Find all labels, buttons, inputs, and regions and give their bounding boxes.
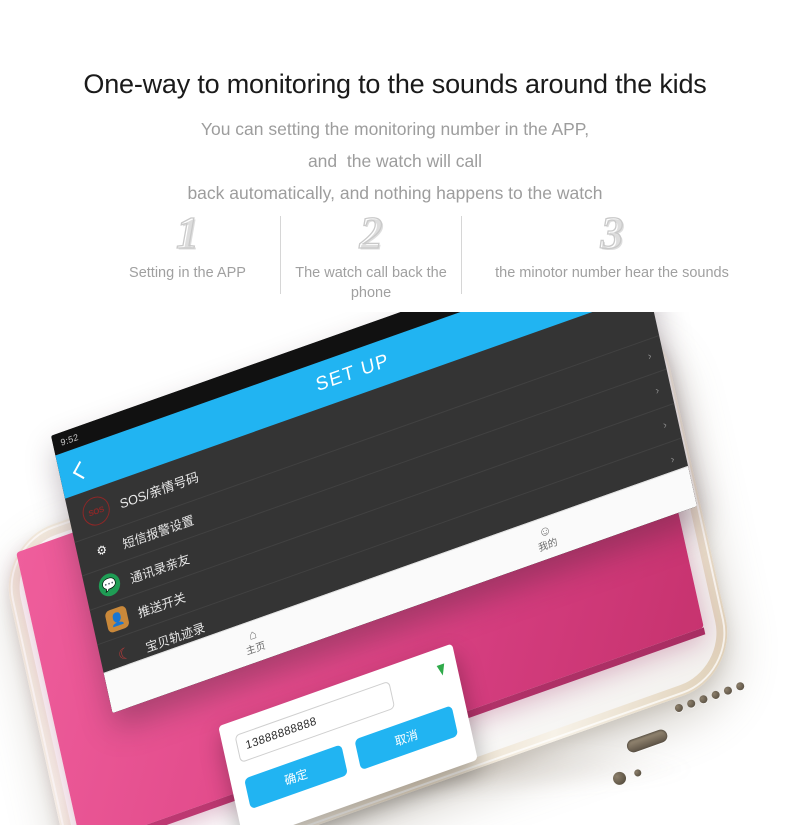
- subtitle-line-2: and the watch will call: [0, 145, 790, 177]
- settings-icon: ⚙: [89, 536, 115, 565]
- page-subtitle: You can setting the monitoring number in…: [0, 100, 790, 210]
- step-1-number: 1: [95, 208, 280, 264]
- microphone-hole: [633, 768, 642, 777]
- intro-copy: One-way to monitoring to the sounds arou…: [0, 0, 790, 210]
- chat-icon: 💬: [97, 570, 123, 599]
- steps-row: 1 Setting in the APP 2 The watch call ba…: [95, 208, 785, 304]
- contacts-icon: 👤: [104, 605, 130, 634]
- step-3-number: 3: [462, 208, 762, 264]
- step-3-caption: the minotor number hear the sounds: [462, 264, 762, 284]
- page-title: One-way to monitoring to the sounds arou…: [0, 0, 790, 100]
- caret-down-icon: [437, 663, 447, 676]
- speaker-grille: [674, 679, 754, 724]
- back-arrow-icon[interactable]: [66, 453, 96, 487]
- step-3: 3 the minotor number hear the sounds: [462, 208, 762, 284]
- step-2-caption: The watch call back the phone: [281, 264, 461, 303]
- step-2: 2 The watch call back the phone: [281, 208, 461, 303]
- lightning-port: [625, 728, 669, 754]
- step-1: 1 Setting in the APP: [95, 208, 280, 284]
- subtitle-line-3: back automatically, and nothing happens …: [0, 177, 790, 209]
- sos-icon: SOS: [80, 493, 112, 530]
- phone-scene: 9:52 ◢ ● ⏰ SET UP SOS SOS/亲情号码 ⚙ 短信报警设置 …: [0, 312, 790, 825]
- step-2-number: 2: [281, 208, 461, 264]
- step-1-caption: Setting in the APP: [95, 264, 280, 284]
- subtitle-line-1: You can setting the monitoring number in…: [0, 113, 790, 145]
